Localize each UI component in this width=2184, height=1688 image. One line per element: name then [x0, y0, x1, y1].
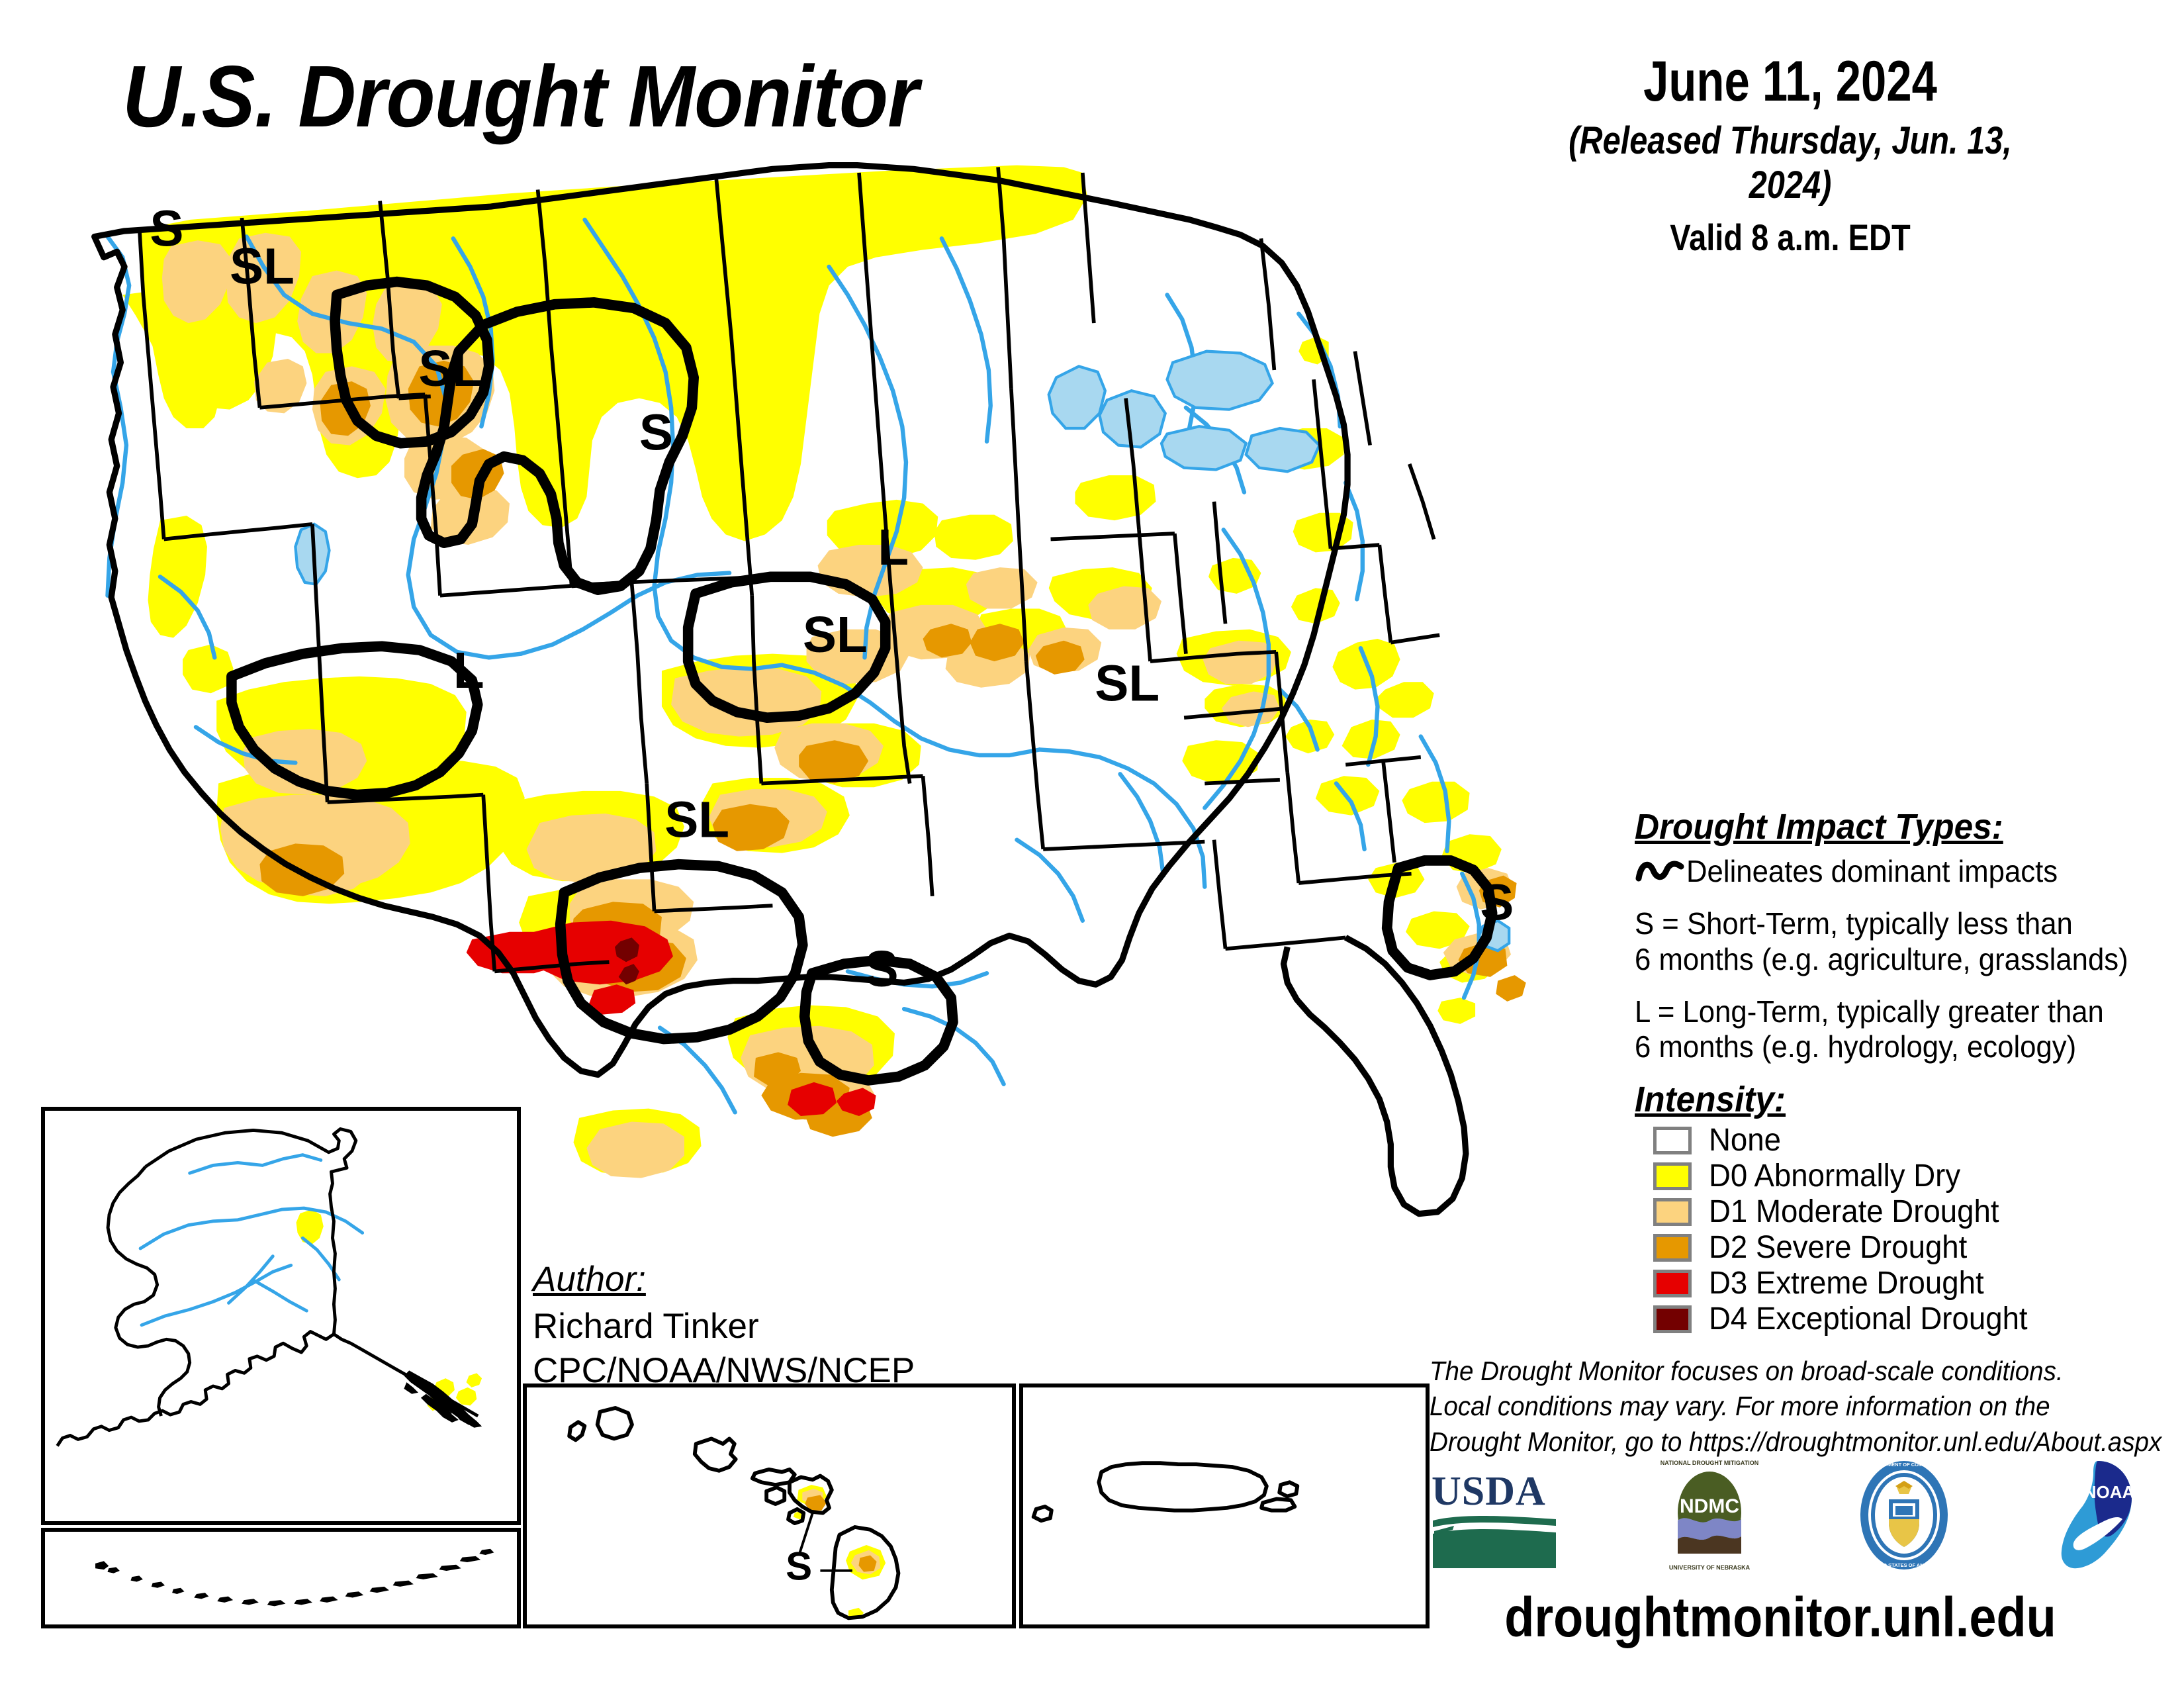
puerto-rico-outline [1034, 1463, 1298, 1521]
intensity-legend-list: None D0 Abnormally Dry D1 Moderate Droug… [1653, 1124, 2044, 1338]
intensity-row-d0[interactable]: D0 Abnormally Dry [1653, 1160, 2044, 1193]
aleutians-inset[interactable] [41, 1528, 521, 1628]
valid-time: Valid 8 a.m. EDT [1540, 216, 2040, 259]
noaa-logo[interactable]: NOAA [2048, 1457, 2148, 1573]
drought-monitor-page: U.S. Drought Monitor June 11, 2024 (Rele… [0, 0, 2184, 1688]
intensity-label-d4: D4 Exceptional Drought [1709, 1303, 2028, 1335]
disclaimer-text: The Drought Monitor focuses on broad-sca… [1430, 1354, 2101, 1460]
svg-text:UNITED STATES OF AMERICA: UNITED STATES OF AMERICA [1868, 1562, 1940, 1568]
svg-text:NATIONAL DROUGHT MITIGATION: NATIONAL DROUGHT MITIGATION [1661, 1460, 1759, 1466]
impact-delineates-row: Delineates dominant impacts [1635, 854, 2164, 889]
author-label: Author: [533, 1258, 646, 1302]
impact-types-legend: Drought Impact Types: Delineates dominan… [1635, 806, 2164, 1065]
hawaii-inset-svg: S [527, 1387, 1012, 1624]
intensity-row-d3[interactable]: D3 Extreme Drought [1653, 1267, 2044, 1300]
ndmc-logo[interactable]: NDMC NATIONAL DROUGHT MITIGATION UNIVERS… [1660, 1457, 1759, 1573]
intensity-label-d3: D3 Extreme Drought [1709, 1268, 1984, 1299]
map-label-sl: SL [1095, 656, 1160, 712]
swatch-none [1653, 1127, 1692, 1154]
intensity-label-d0: D0 Abnormally Dry [1709, 1160, 1960, 1192]
impact-short-term-line1: S = Short-Term, typically less than [1635, 906, 2138, 941]
svg-text:DEPARTMENT OF COMMERCE: DEPARTMENT OF COMMERCE [1867, 1462, 1940, 1468]
squiggle-icon [1635, 856, 1686, 888]
alaska-inset[interactable] [41, 1107, 521, 1525]
hawaii-inset[interactable]: S [523, 1383, 1016, 1628]
swatch-d1 [1653, 1198, 1692, 1226]
agency-logos: USDA NDMC NATIONAL DROUGHT MITIGATION UN… [1426, 1454, 2148, 1576]
puerto-rico-inset-svg [1023, 1387, 1426, 1624]
svg-text:USDA: USDA [1432, 1469, 1546, 1514]
author-name: Richard Tinker [533, 1305, 915, 1349]
intensity-row-none[interactable]: None [1653, 1124, 2044, 1157]
alaska-d0-layer [296, 1209, 482, 1411]
alaska-inset-svg [45, 1111, 517, 1521]
hawaii-island-outlines [569, 1408, 898, 1618]
map-label-sl: SL [418, 341, 483, 397]
intensity-legend-heading: Intensity: [1635, 1079, 1786, 1120]
map-label-s: S [639, 405, 673, 461]
svg-text:NOAA: NOAA [2084, 1482, 2135, 1502]
doc-logo[interactable]: DEPARTMENT OF COMMERCE UNITED STATES OF … [1854, 1457, 1954, 1573]
release-date: (Released Thursday, Jun. 13, 2024) [1540, 119, 2040, 207]
svg-text:UNIVERSITY OF NEBRASKA: UNIVERSITY OF NEBRASKA [1669, 1564, 1751, 1571]
hawaii-impact-label-s: S [786, 1544, 812, 1588]
swatch-d0 [1653, 1162, 1692, 1190]
intensity-label-d2: D2 Severe Drought [1709, 1232, 1967, 1264]
impact-legend-heading: Drought Impact Types: [1635, 806, 2138, 847]
author-organization: CPC/NOAA/NWS/NCEP [533, 1349, 915, 1393]
disclaimer-line-2: Local conditions may vary. For more info… [1430, 1389, 2101, 1424]
aleutian-islands [95, 1549, 494, 1607]
aleutians-inset-svg [45, 1532, 517, 1624]
map-label-sl: SL [664, 792, 729, 848]
map-label-l: L [878, 520, 909, 576]
impact-short-term: S = Short-Term, typically less than 6 mo… [1635, 906, 2138, 977]
puerto-rico-inset[interactable] [1019, 1383, 1430, 1628]
valid-date: June 11, 2024 [1552, 53, 2028, 110]
intensity-row-d4[interactable]: D4 Exceptional Drought [1653, 1303, 2044, 1336]
site-url[interactable]: droughtmonitor.unl.edu [1486, 1585, 2075, 1650]
author-block: Author: Richard Tinker CPC/NOAA/NWS/NCEP [533, 1258, 915, 1393]
intensity-row-d2[interactable]: D2 Severe Drought [1653, 1231, 2044, 1264]
map-label-l: L [453, 643, 484, 699]
intensity-label-none: None [1709, 1125, 1781, 1156]
map-label-sl: SL [803, 607, 868, 663]
impact-delineates-text: Delineates dominant impacts [1686, 854, 2058, 889]
usda-logo[interactable]: USDA [1426, 1457, 1565, 1573]
map-label-s: S [1480, 874, 1514, 931]
alaska-rivers [140, 1155, 363, 1325]
map-label-s: S [865, 941, 899, 998]
impact-long-term: L = Long-Term, typically greater than 6 … [1635, 994, 2138, 1065]
intensity-label-d1: D1 Moderate Drought [1709, 1196, 1999, 1228]
impact-short-term-line2: 6 months (e.g. agriculture, grasslands) [1635, 942, 2138, 977]
impact-long-term-line1: L = Long-Term, typically greater than [1635, 994, 2138, 1029]
swatch-d4 [1653, 1305, 1692, 1333]
intensity-row-d1[interactable]: D1 Moderate Drought [1653, 1196, 2044, 1229]
swatch-d3 [1653, 1270, 1692, 1297]
svg-text:NDMC: NDMC [1680, 1495, 1739, 1517]
swatch-d2 [1653, 1234, 1692, 1262]
disclaimer-line-1: The Drought Monitor focuses on broad-sca… [1430, 1354, 2101, 1389]
map-label-s: S [150, 201, 183, 258]
impact-long-term-line2: 6 months (e.g. hydrology, ecology) [1635, 1029, 2138, 1064]
map-label-sl: SL [230, 238, 295, 295]
